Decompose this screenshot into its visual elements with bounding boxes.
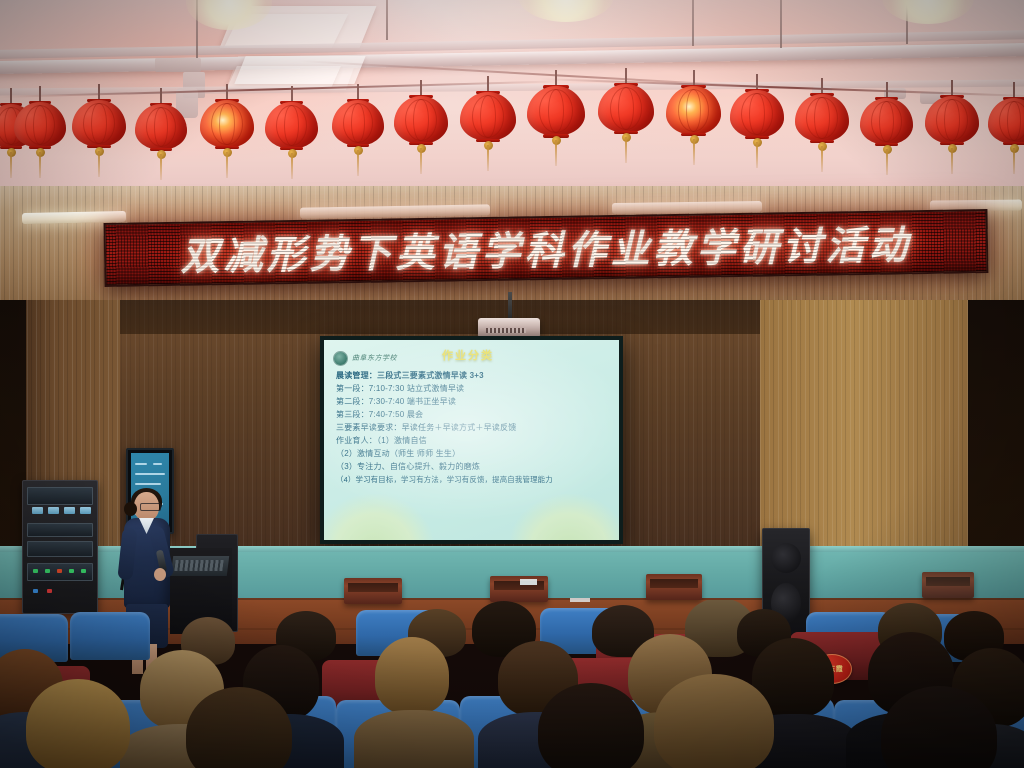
projector-mount-pole xyxy=(508,292,512,320)
slide-decoration-right xyxy=(509,494,619,540)
audience-member-head xyxy=(548,692,634,768)
slide-line: 第二段：7:30-7:40 端书正坐早读 xyxy=(336,396,611,407)
audience-member-head xyxy=(892,696,986,768)
slide-line: （2）激情互动（师生 师师 生生） xyxy=(336,448,611,459)
auditorium-photo: 双减形势下英语学科作业教学研讨活动 曲阜东方学校 作业分类 晨读管理：三段式三要… xyxy=(0,0,1024,768)
ceiling-hanger-rod xyxy=(692,0,694,46)
monitor-text-line xyxy=(153,463,162,465)
slide-title: 作业分类 xyxy=(442,347,494,363)
monitor-text-line xyxy=(135,483,161,485)
paper-lantern xyxy=(460,92,516,141)
slide-line: 第三段：7:40-7:50 晨会 xyxy=(336,409,611,420)
speaker-cone xyxy=(771,543,801,573)
audience-member-head xyxy=(666,684,762,768)
av-status-led xyxy=(45,569,50,573)
paper-lantern xyxy=(14,102,66,148)
av-rack-button[interactable] xyxy=(32,507,43,514)
school-name-text: 曲阜东方学校 xyxy=(352,353,397,363)
av-status-led xyxy=(81,569,86,573)
projection-screen: 曲阜东方学校 作业分类 晨读管理：三段式三要素式激情早读 3+3 第一段：7:1… xyxy=(324,340,619,540)
paper-lantern xyxy=(200,100,254,148)
glasses-icon xyxy=(140,503,161,511)
paper-lantern xyxy=(666,86,721,135)
slide-decoration-left xyxy=(324,494,434,540)
av-rack-button[interactable] xyxy=(64,507,75,514)
paper-lantern xyxy=(527,86,585,136)
av-status-led xyxy=(47,589,52,593)
stage-bench xyxy=(922,572,974,598)
paper-lantern xyxy=(925,96,979,144)
paper-lantern xyxy=(265,102,318,149)
stage-bench xyxy=(646,574,702,600)
paper-lantern xyxy=(135,104,187,150)
laptop-keyboard[interactable] xyxy=(174,560,223,571)
av-rack-button[interactable] xyxy=(48,507,59,514)
paper-lantern xyxy=(795,94,849,142)
paper-lantern xyxy=(730,90,784,138)
ceiling-hanger-rod xyxy=(386,0,388,40)
paper-lantern xyxy=(988,98,1024,144)
av-status-led xyxy=(57,569,62,573)
stage-upper-shadow xyxy=(120,300,760,334)
audience-area: 孔文 朱东霞 xyxy=(0,600,1024,768)
projection-screen-frame: 曲阜东方学校 作业分类 晨读管理：三段式三要素式激情早读 3+3 第一段：7:1… xyxy=(320,336,623,544)
slide-line: 第一段：7:10-7:30 站立式激情早读 xyxy=(336,383,611,394)
av-status-led xyxy=(69,569,74,573)
slide-line: 晨读管理：三段式三要素式激情早读 3+3 xyxy=(336,370,611,381)
monitor-text-line xyxy=(135,473,165,475)
av-rack-panel[interactable] xyxy=(27,523,93,537)
audience-member-head xyxy=(196,696,282,768)
av-rack-panel[interactable] xyxy=(27,541,93,557)
slide-line: （4）学习有目标，学习有方法，学习有反馈，提高自我管理能力 xyxy=(336,474,611,485)
paper-lantern xyxy=(598,84,654,133)
av-rack-button[interactable] xyxy=(80,507,91,514)
ceiling-vent xyxy=(155,58,201,72)
ceiling-projector xyxy=(478,318,540,338)
led-banner-text: 双减形势下英语学科作业教学研讨活动 xyxy=(180,214,912,281)
paper-lantern xyxy=(860,98,913,145)
paper-lantern xyxy=(72,100,126,147)
slide-line: 作业育人：（1）激情自信 xyxy=(336,435,611,446)
paper-lantern xyxy=(332,100,384,146)
school-logo-icon xyxy=(334,352,347,365)
av-equipment-rack[interactable] xyxy=(22,480,98,614)
presenter-hair-bun xyxy=(124,502,137,516)
slide-line: 三要素早读要求：早读任务＋早读方式＋早读反馈 xyxy=(336,422,611,433)
audience-member-head xyxy=(36,688,120,768)
av-status-led xyxy=(33,569,38,573)
audience-member-head xyxy=(416,690,498,768)
paper-lantern xyxy=(394,96,448,144)
bench-paper xyxy=(520,579,537,585)
av-rack-panel[interactable] xyxy=(27,487,93,505)
slide-line: （3）专注力、自信心提升、毅力的磨炼 xyxy=(336,461,611,472)
monitor-text-line xyxy=(135,463,147,465)
ceiling-hanger-rod xyxy=(780,0,782,48)
stage-bench xyxy=(490,576,548,602)
av-status-led xyxy=(33,589,38,593)
slide-body: 晨读管理：三段式三要素式激情早读 3+3 第一段：7:10-7:30 站立式激情… xyxy=(336,370,611,485)
auditorium-seat[interactable] xyxy=(70,612,150,660)
presenter-hand xyxy=(154,568,166,581)
